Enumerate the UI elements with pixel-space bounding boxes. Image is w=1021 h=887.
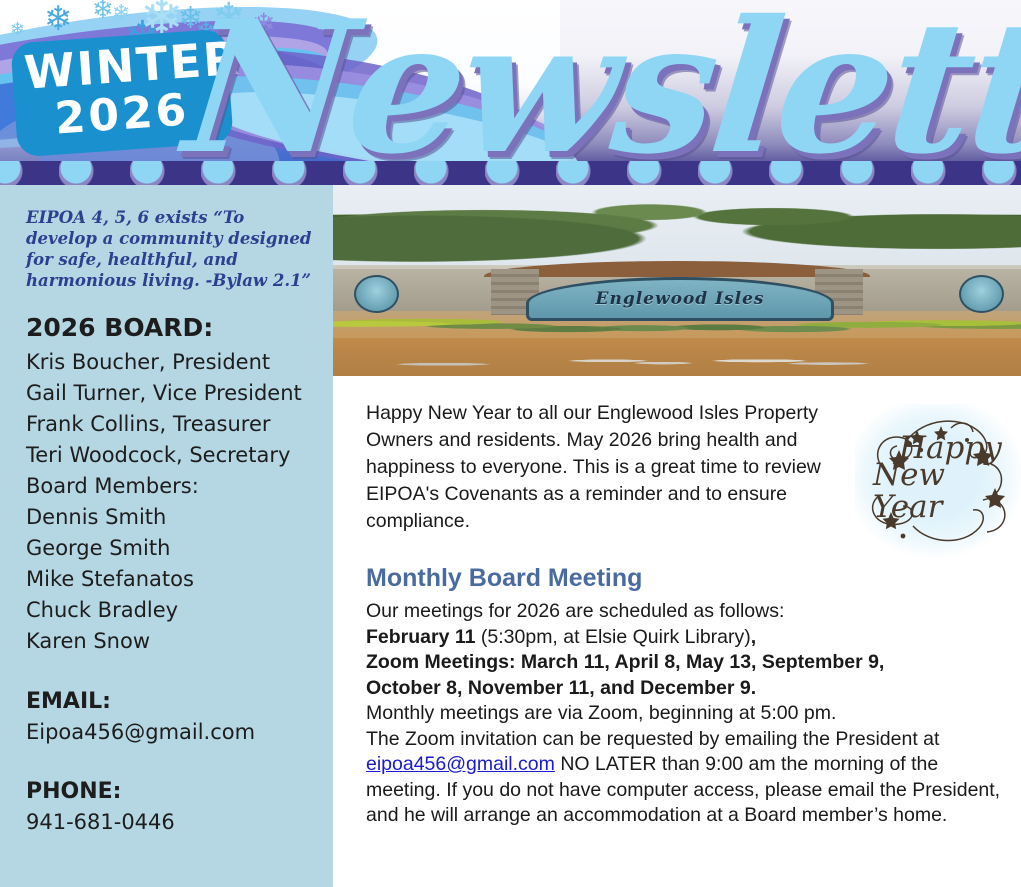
sidebar: EIPOA 4, 5, 6 exists “To develop a commu… [0,185,333,887]
list-item: Mike Stefanatos [26,564,313,595]
board-heading: 2026 BOARD: [26,311,313,345]
snowflake-icon: ❄ [44,2,73,36]
zoom-start-time-line: Monthly meetings are via Zoom, beginning… [366,702,836,724]
newsletter-page: ❄ ❄ ❄ ❄ ❄ ❄ ❄ ❄ ❄ ❄ ❄ ❄ WINTER 2026 News… [0,0,1021,887]
intro-paragraph: Happy New Year to all our Englewood Isle… [366,400,856,535]
scallop-dots [0,161,1021,185]
list-item: Gail Turner, Vice President [26,378,313,409]
snowflake-icon: ❄ [112,2,130,24]
february-meeting-date: February 11 [366,626,475,648]
scalloped-banner-border [0,161,1021,185]
invitation-text-before-link: The Zoom invitation can be requested by … [366,728,939,750]
list-item: Chuck Bradley [26,595,313,626]
meeting-schedule-block: Our meetings for 2026 are scheduled as f… [366,599,1006,829]
meeting-intro-line: Our meetings for 2026 are scheduled as f… [366,600,784,622]
phone-value[interactable]: 941-681-0446 [26,807,313,837]
list-item: George Smith [26,533,313,564]
list-item: Board Members: [26,471,313,502]
section-heading-monthly-board-meeting: Monthly Board Meeting [366,563,1021,593]
photo-trees [333,185,1021,265]
newsletter-wordmark: Newsletter [178,0,1021,180]
mission-statement: EIPOA 4, 5, 6 exists “To develop a commu… [26,207,313,291]
main-content: Happy New Year to all our Englewood Isle… [366,400,1021,829]
email-link[interactable]: eipoa456@gmail.com [366,753,555,775]
masthead-banner: ❄ ❄ ❄ ❄ ❄ ❄ ❄ ❄ ❄ ❄ ❄ ❄ WINTER 2026 News… [0,0,1021,185]
snowflake-icon: ❄ [92,0,114,22]
photo-rocks [333,347,1021,370]
list-item: Teri Woodcock, Secretary [26,440,313,471]
entrance-sign-photo: Englewood Isles [333,185,1021,376]
email-value[interactable]: Eipoa456@gmail.com [26,717,313,747]
list-item: Kris Boucher, President [26,347,313,378]
phone-heading: PHONE: [26,777,313,807]
zoom-meetings-line-2: October 8, November 11, and December 9. [366,677,756,699]
list-item: Karen Snow [26,626,313,657]
february-meeting-comma: , [751,626,756,648]
february-meeting-details: (5:30pm, at Elsie Quirk Library) [475,626,750,648]
list-item: Dennis Smith [26,502,313,533]
list-item: Frank Collins, Treasurer [26,409,313,440]
email-heading: EMAIL: [26,687,313,717]
board-member-list: Kris Boucher, President Gail Turner, Vic… [26,347,313,657]
zoom-meetings-line-1: Zoom Meetings: March 11, April 8, May 13… [366,651,884,673]
